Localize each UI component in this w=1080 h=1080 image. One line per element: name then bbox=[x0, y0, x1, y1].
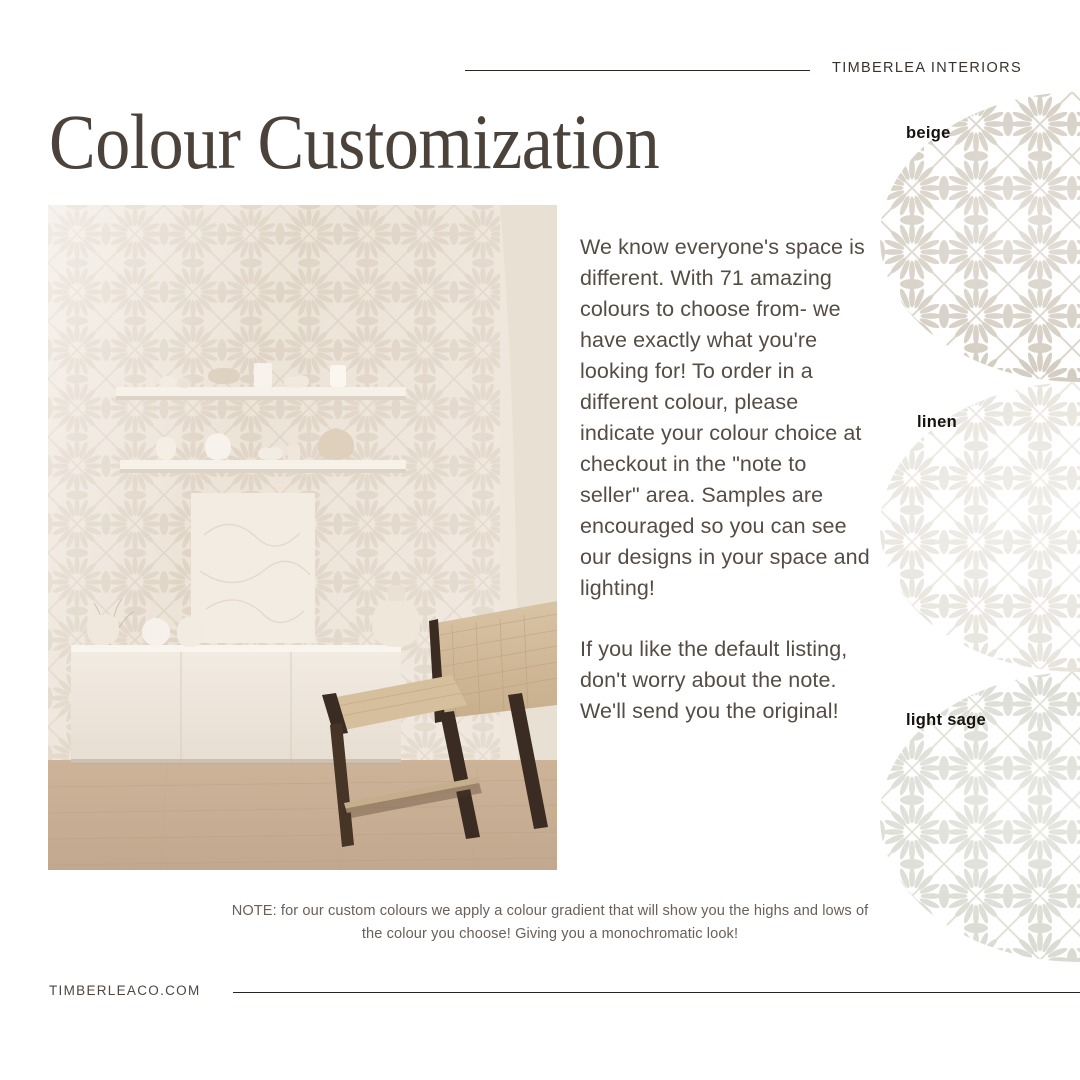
swatch-label-light-sage: light sage bbox=[906, 711, 986, 730]
poster-page: TIMBERLEA INTERIORS Colour Customization bbox=[0, 0, 1080, 1080]
brand-name: TIMBERLEA INTERIORS bbox=[832, 60, 1022, 76]
header-rule bbox=[465, 70, 810, 71]
footer-rule bbox=[233, 992, 1080, 993]
swatch-label-beige: beige bbox=[906, 124, 951, 143]
copy-paragraph-2: If you like the default listing, don't w… bbox=[580, 634, 870, 727]
room-photo bbox=[48, 205, 557, 870]
swatch-clip-linen bbox=[880, 382, 1080, 672]
footer-url: TIMBERLEACO.COM bbox=[49, 983, 201, 998]
note-text: NOTE: for our custom colours we apply a … bbox=[230, 900, 870, 946]
swatch-label-linen: linen bbox=[917, 413, 957, 432]
page-title: Colour Customization bbox=[49, 104, 659, 182]
swatch-linen[interactable] bbox=[880, 382, 1080, 672]
body-copy: We know everyone's space is different. W… bbox=[580, 232, 870, 727]
copy-paragraph-1: We know everyone's space is different. W… bbox=[580, 232, 870, 604]
